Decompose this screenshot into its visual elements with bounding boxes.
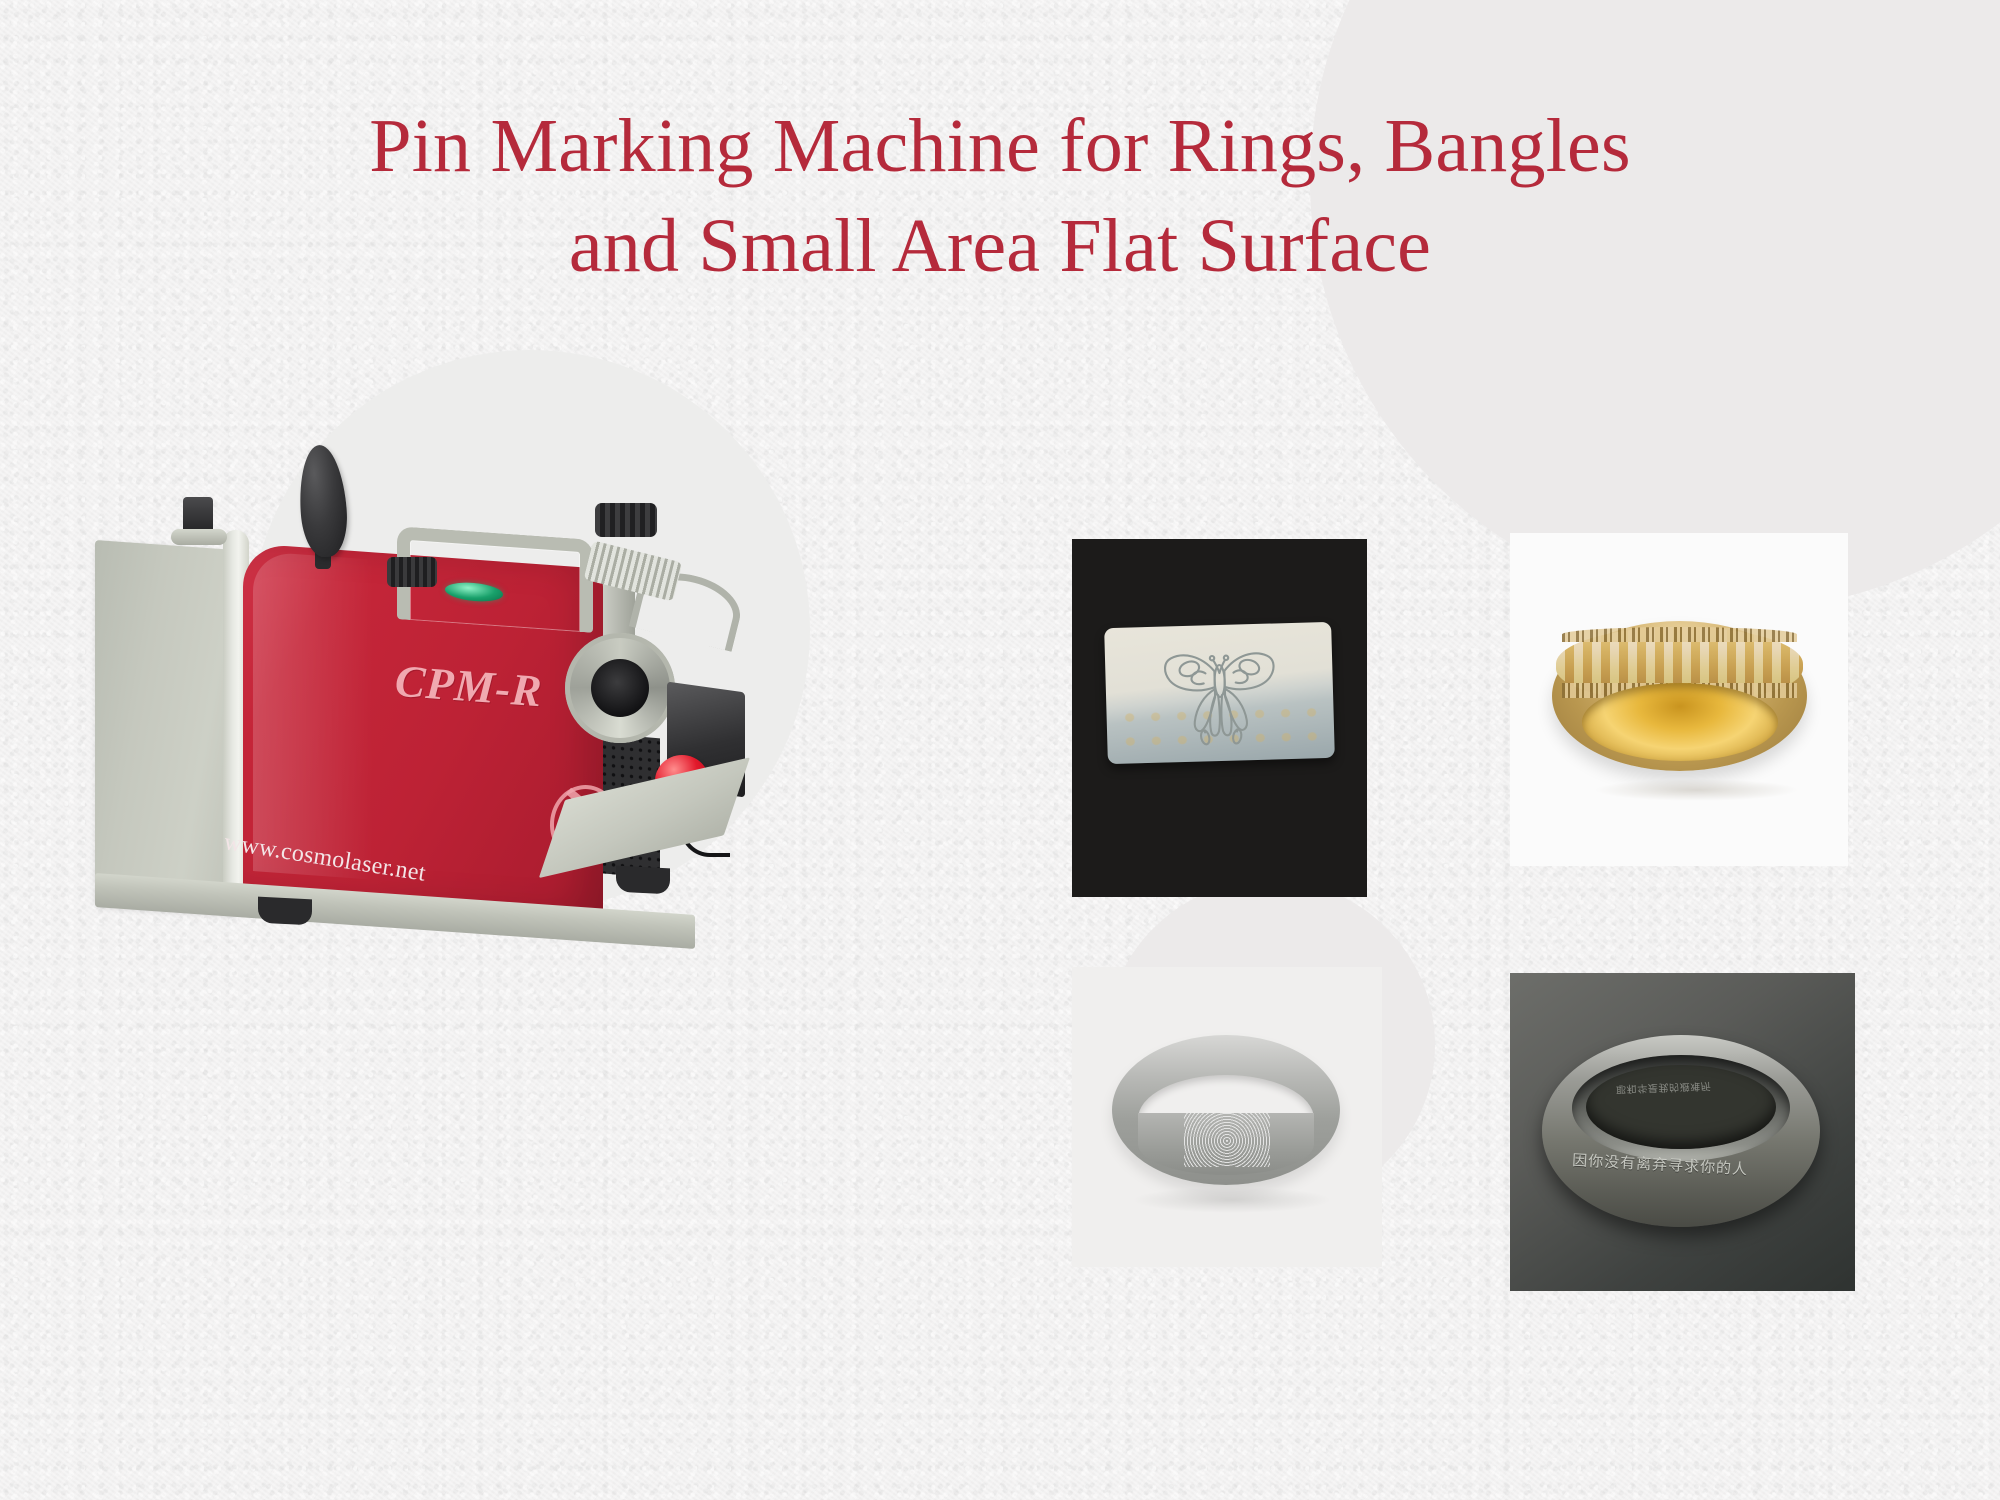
machine-foot-left [258, 897, 312, 926]
slide-canvas: Pin Marking Machine for Rings, Bangles a… [0, 0, 2000, 1500]
machine-knob-right [595, 503, 657, 537]
gold-ring-shadow [1594, 779, 1799, 801]
sample-image-butterfly-plate [1072, 539, 1367, 897]
bangle-object: 耶和华是我的避难所 因你没有离弃寻求你的人 [1542, 1035, 1820, 1227]
silver-ring-shadow [1132, 1187, 1332, 1213]
page-title: Pin Marking Machine for Rings, Bangles a… [0, 96, 2000, 297]
page-title-line-2: and Small Area Flat Surface [0, 196, 2000, 296]
butterfly-engraving-icon [1152, 631, 1287, 755]
machine-foot-right [616, 866, 670, 895]
sample-image-gold-ring [1510, 533, 1848, 866]
sample-image-silver-ring [1072, 967, 1382, 1267]
machine-adjustment-dial [565, 633, 675, 743]
machine-side-panel [95, 540, 237, 915]
silver-ring-object [1112, 1035, 1340, 1185]
silver-ring-inner-band [1138, 1113, 1314, 1175]
gold-ring-inner-surface [1582, 683, 1778, 761]
machine-model-label: CPM-R [393, 655, 544, 718]
machine-control-lever [296, 444, 350, 559]
page-title-line-1: Pin Marking Machine for Rings, Bangles [0, 96, 2000, 196]
machine-knob-center [387, 557, 437, 587]
metal-plate [1104, 622, 1335, 764]
gold-ring-greek-key-top [1562, 627, 1797, 642]
machine-photo: CPM-R www.cosmolaser.net [95, 455, 815, 975]
machine-body-highlight [253, 551, 373, 880]
fingerprint-engraving-icon [1184, 1113, 1270, 1167]
sample-image-engraved-bangle: 耶和华是我的避难所 因你没有离弃寻求你的人 [1510, 973, 1855, 1291]
machine-knob-left-collar [171, 529, 227, 545]
gold-ring-object [1552, 621, 1807, 771]
